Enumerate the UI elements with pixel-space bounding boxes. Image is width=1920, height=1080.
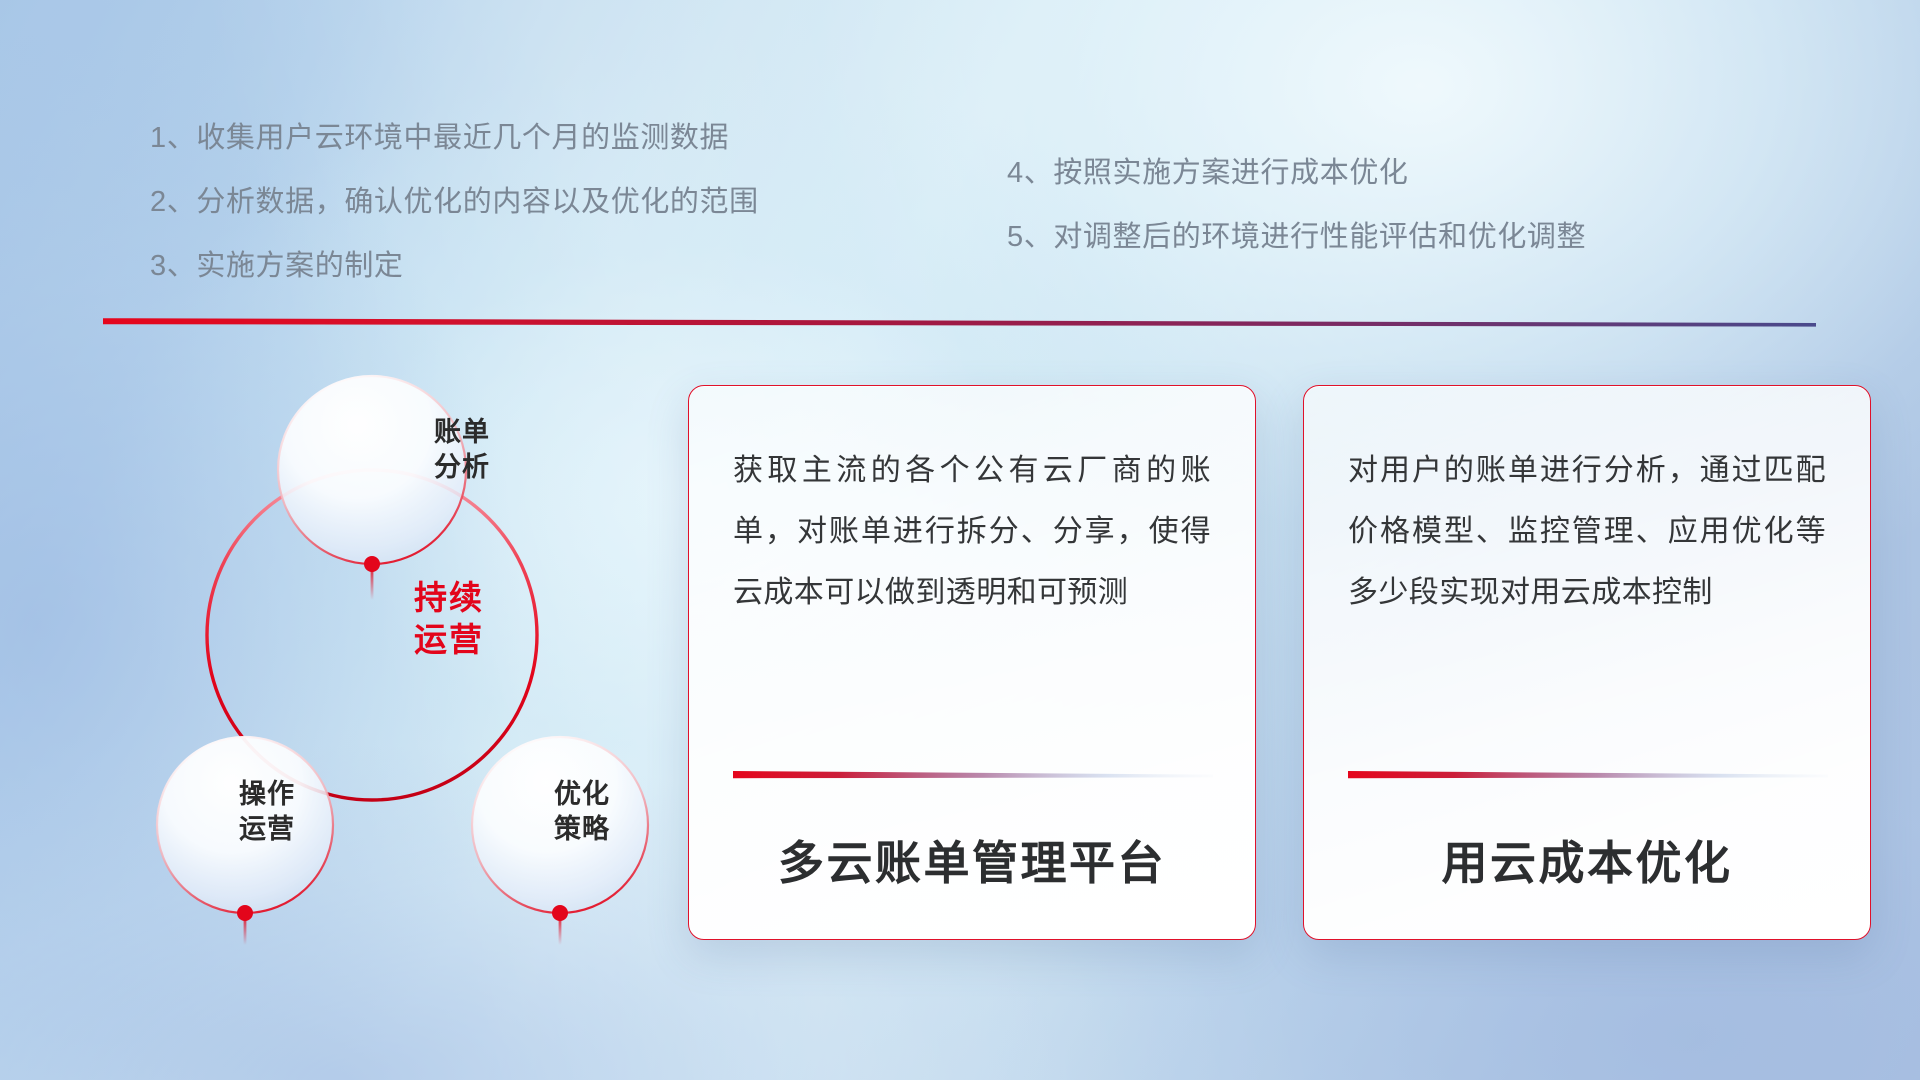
step-item-1: 1、收集用户云环境中最近几个月的监测数据 [150,124,759,153]
steps-right-column: 4、按照实施方案进行成本优化 5、对调整后的环境进行性能评估和优化调整 [1007,159,1586,252]
card-cloud-cost-optimization[interactable]: 对用户的账单进行分析，通过匹配价格模型、监控管理、应用优化等多少段实现对用云成本… [1303,385,1871,940]
accent-rule-shape-icon [733,770,1213,779]
step-item-3: 3、实施方案的制定 [150,252,759,281]
card-inner: 对用户的账单进行分析，通过匹配价格模型、监控管理、应用优化等多少段实现对用云成本… [1304,386,1870,939]
card-inner: 获取主流的各个公有云厂商的账单，对账单进行拆分、分享，使得云成本可以做到透明和可… [689,386,1255,939]
accent-rule-shape-icon [1348,770,1828,779]
card-title: 用云成本优化 [1304,827,1870,893]
card-body-text: 获取主流的各个公有云厂商的账单，对账单进行拆分、分享，使得云成本可以做到透明和可… [733,441,1211,624]
continuous-operations-diagram: 账单 分析 持续 运营 操作 运营 优化 策略 [100,355,640,955]
card-title: 多云账单管理平台 [689,827,1255,893]
card-body-text: 对用户的账单进行分析，通过匹配价格模型、监控管理、应用优化等多少段实现对用云成本… [1348,441,1826,624]
diagram-circles-icon [100,355,640,955]
steps-left-column: 1、收集用户云环境中最近几个月的监测数据 2、分析数据，确认优化的内容以及优化的… [150,124,759,281]
slide-canvas: 1、收集用户云环境中最近几个月的监测数据 2、分析数据，确认优化的内容以及优化的… [0,0,1920,1080]
step-item-4: 4、按照实施方案进行成本优化 [1007,159,1586,188]
card-accent-rule [733,770,1213,779]
card-accent-rule [1348,770,1828,779]
step-item-5: 5、对调整后的环境进行性能评估和优化调整 [1007,223,1586,252]
divider-shape-icon [103,317,1816,327]
step-item-2: 2、分析数据，确认优化的内容以及优化的范围 [150,188,759,217]
section-divider [103,317,1816,327]
card-multi-cloud-billing-platform[interactable]: 获取主流的各个公有云厂商的账单，对账单进行拆分、分享，使得云成本可以做到透明和可… [688,385,1256,940]
